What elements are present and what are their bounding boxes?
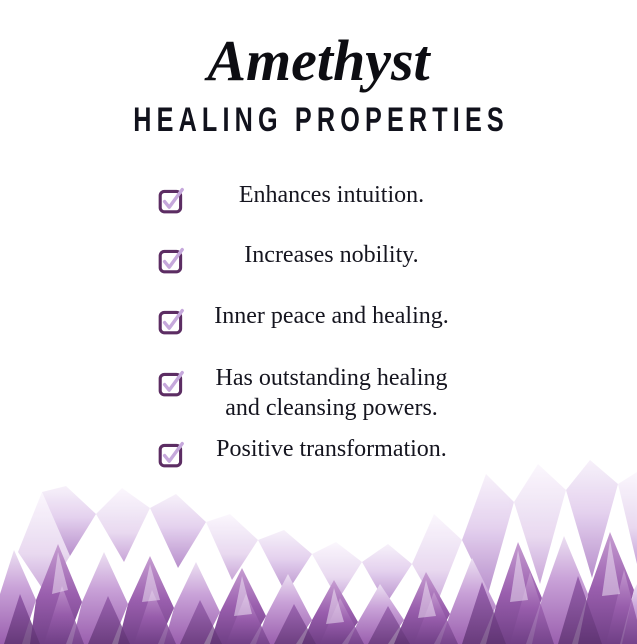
- checkbox-checked-icon: [158, 309, 184, 335]
- list-item: Has outstanding healing and cleansing po…: [0, 364, 637, 424]
- list-item: Inner peace and healing.: [0, 302, 637, 335]
- list-item: Increases nobility.: [0, 241, 637, 274]
- list-item: Enhances intuition.: [0, 181, 637, 214]
- page-title: Amethyst: [0, 32, 637, 90]
- list-item-label: Has outstanding healing and cleansing po…: [184, 364, 637, 424]
- page-subtitle: HEALING PROPERTIES: [83, 103, 554, 137]
- checkbox-checked-icon: [158, 248, 184, 274]
- amethyst-healing-properties-poster: Amethyst HEALING PROPERTIES Enhances int…: [0, 0, 637, 644]
- list-item-label: Enhances intuition.: [184, 181, 637, 211]
- checkbox-checked-icon: [158, 188, 184, 214]
- checkbox-checked-icon: [158, 371, 184, 397]
- healing-properties-list: Enhances intuition. Increases nobility. …: [0, 181, 637, 468]
- list-item-label: Inner peace and healing.: [184, 302, 637, 332]
- list-item-label: Increases nobility.: [184, 241, 637, 271]
- poster-header: Amethyst HEALING PROPERTIES: [0, 32, 637, 137]
- amethyst-crystal-cluster: [0, 444, 637, 644]
